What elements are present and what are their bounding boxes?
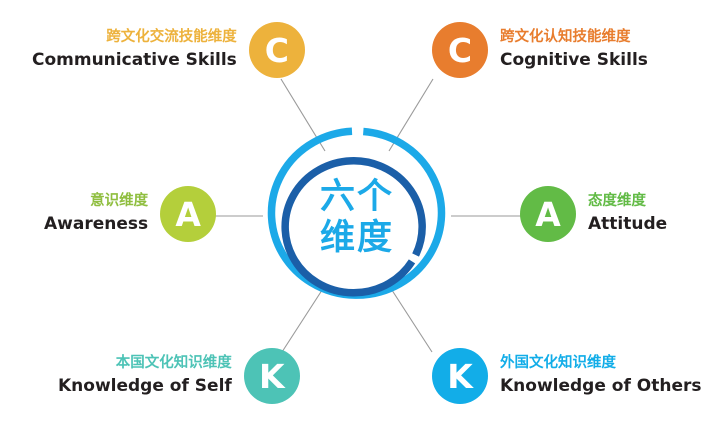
node-label-en-communicative-skills: Communicative Skills	[32, 50, 237, 71]
node-bubble-communicative-skills[interactable]: C	[249, 22, 305, 78]
node-label-cn-knowledge-of-self: 本国文化知识维度	[116, 355, 232, 373]
node-label-en-attitude: Attitude	[588, 214, 667, 235]
node-cognitive-skills[interactable]: C 跨文化认知技能维度 Cognitive Skills	[432, 22, 648, 78]
node-knowledge-of-others[interactable]: K 外国文化知识维度 Knowledge of Others	[432, 348, 702, 404]
center-hub: 六个 维度	[257, 126, 457, 308]
node-bubble-knowledge-of-self[interactable]: K	[244, 348, 300, 404]
node-labels-communicative-skills: 跨文化交流技能维度 Communicative Skills	[32, 29, 237, 70]
node-label-cn-cognitive-skills: 跨文化认知技能维度	[500, 29, 631, 47]
node-label-cn-knowledge-of-others: 外国文化知识维度	[500, 355, 616, 373]
node-labels-attitude: 态度维度 Attitude	[588, 193, 667, 234]
node-label-cn-attitude: 态度维度	[588, 193, 646, 211]
diagram-canvas: 六个 维度 跨文化交流技能维度 Communicative Skills C C…	[0, 0, 714, 433]
node-label-cn-awareness: 意识维度	[90, 193, 148, 211]
node-labels-awareness: 意识维度 Awareness	[44, 193, 148, 234]
node-label-en-knowledge-of-self: Knowledge of Self	[58, 376, 232, 397]
node-bubble-knowledge-of-others[interactable]: K	[432, 348, 488, 404]
node-attitude[interactable]: A 态度维度 Attitude	[520, 186, 667, 242]
node-label-en-knowledge-of-others: Knowledge of Others	[500, 376, 702, 397]
node-bubble-awareness[interactable]: A	[160, 186, 216, 242]
node-knowledge-of-self[interactable]: 本国文化知识维度 Knowledge of Self K	[58, 348, 300, 404]
hub-title-line2: 维度	[320, 217, 394, 258]
node-labels-cognitive-skills: 跨文化认知技能维度 Cognitive Skills	[500, 29, 648, 70]
node-label-en-cognitive-skills: Cognitive Skills	[500, 50, 648, 71]
node-communicative-skills[interactable]: 跨文化交流技能维度 Communicative Skills C	[32, 22, 305, 78]
hub-title-line1: 六个	[320, 176, 394, 217]
node-awareness[interactable]: 意识维度 Awareness A	[44, 186, 216, 242]
node-label-en-awareness: Awareness	[44, 214, 148, 235]
node-bubble-cognitive-skills[interactable]: C	[432, 22, 488, 78]
node-labels-knowledge-of-self: 本国文化知识维度 Knowledge of Self	[58, 355, 232, 396]
node-bubble-attitude[interactable]: A	[520, 186, 576, 242]
hub-title: 六个 维度	[257, 126, 457, 308]
node-labels-knowledge-of-others: 外国文化知识维度 Knowledge of Others	[500, 355, 702, 396]
node-label-cn-communicative-skills: 跨文化交流技能维度	[106, 29, 237, 47]
